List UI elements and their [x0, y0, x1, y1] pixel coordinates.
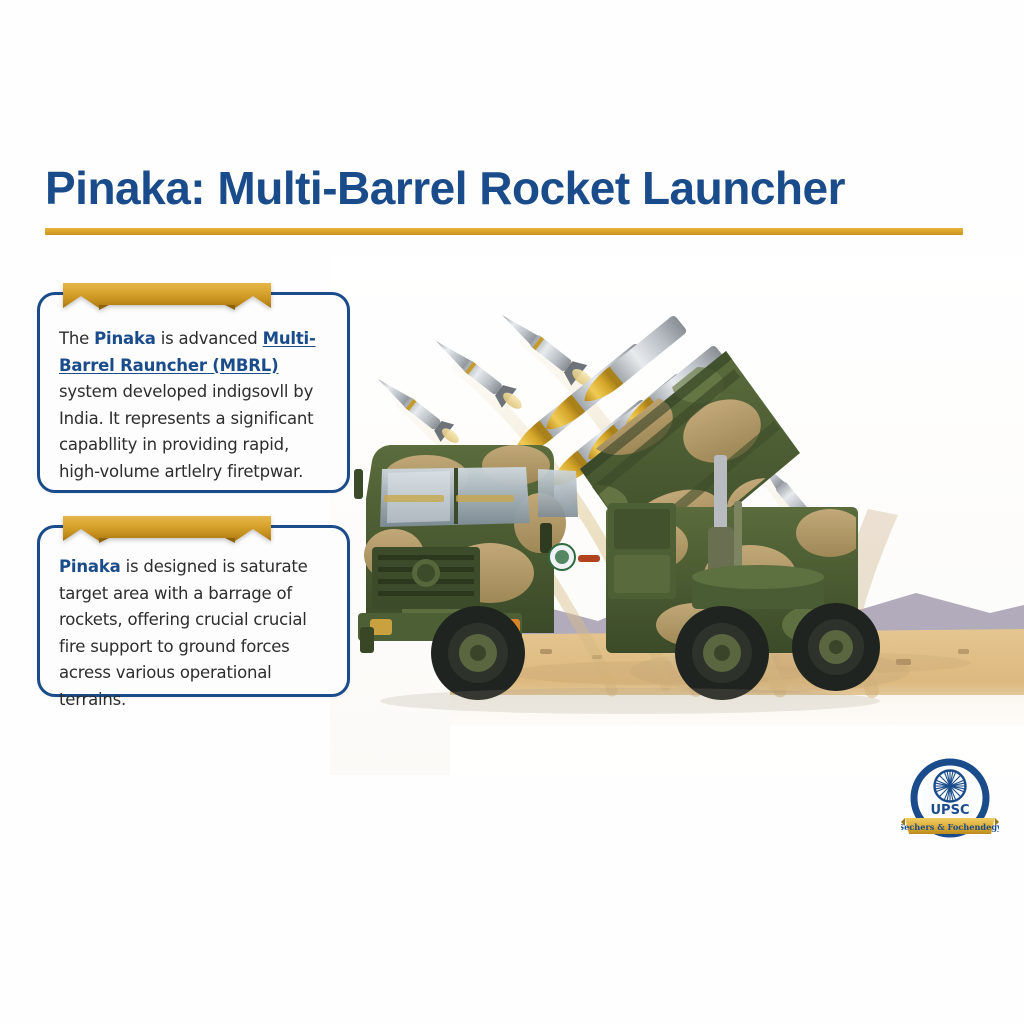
- info-card-2: Pinaka is designed is saturate target ar…: [37, 525, 350, 697]
- info-card-1: The Pinaka is advanced Multi-Barrel Raun…: [37, 292, 350, 493]
- info-card-1-text: The Pinaka is advanced Multi-Barrel Raun…: [59, 326, 331, 485]
- card2-keyword-pinaka: Pinaka: [59, 557, 121, 576]
- gold-ribbon-banner: [63, 281, 271, 312]
- card1-keyword-pinaka: Pinaka: [94, 329, 156, 348]
- upsc-banner-text: Sechers & Fochendegy: [901, 822, 999, 832]
- title-underline-rule: [45, 228, 963, 235]
- upsc-badge: UPSC Sechers & Fochendegy: [901, 752, 999, 850]
- truck-door-emblem: [549, 544, 575, 570]
- upsc-wordmark: UPSC: [931, 803, 970, 818]
- ashoka-chakra-icon: [935, 771, 966, 802]
- gold-ribbon-banner: [63, 514, 271, 545]
- card2-seg-plain-1: is designed is saturate target area with…: [59, 557, 308, 709]
- infographic-page: Pinaka: Multi-Barrel Rocket Launcher: [0, 0, 1024, 1024]
- info-card-2-text: Pinaka is designed is saturate target ar…: [59, 554, 331, 713]
- page-title: Pinaka: Multi-Barrel Rocket Launcher: [45, 162, 975, 215]
- pinaka-illustration: [330, 255, 1024, 775]
- card1-seg-plain-2: is advanced: [156, 329, 263, 348]
- card1-seg-plain-3: system developed indigsovll by India. It…: [59, 382, 313, 481]
- card1-seg-plain-1: The: [59, 329, 94, 348]
